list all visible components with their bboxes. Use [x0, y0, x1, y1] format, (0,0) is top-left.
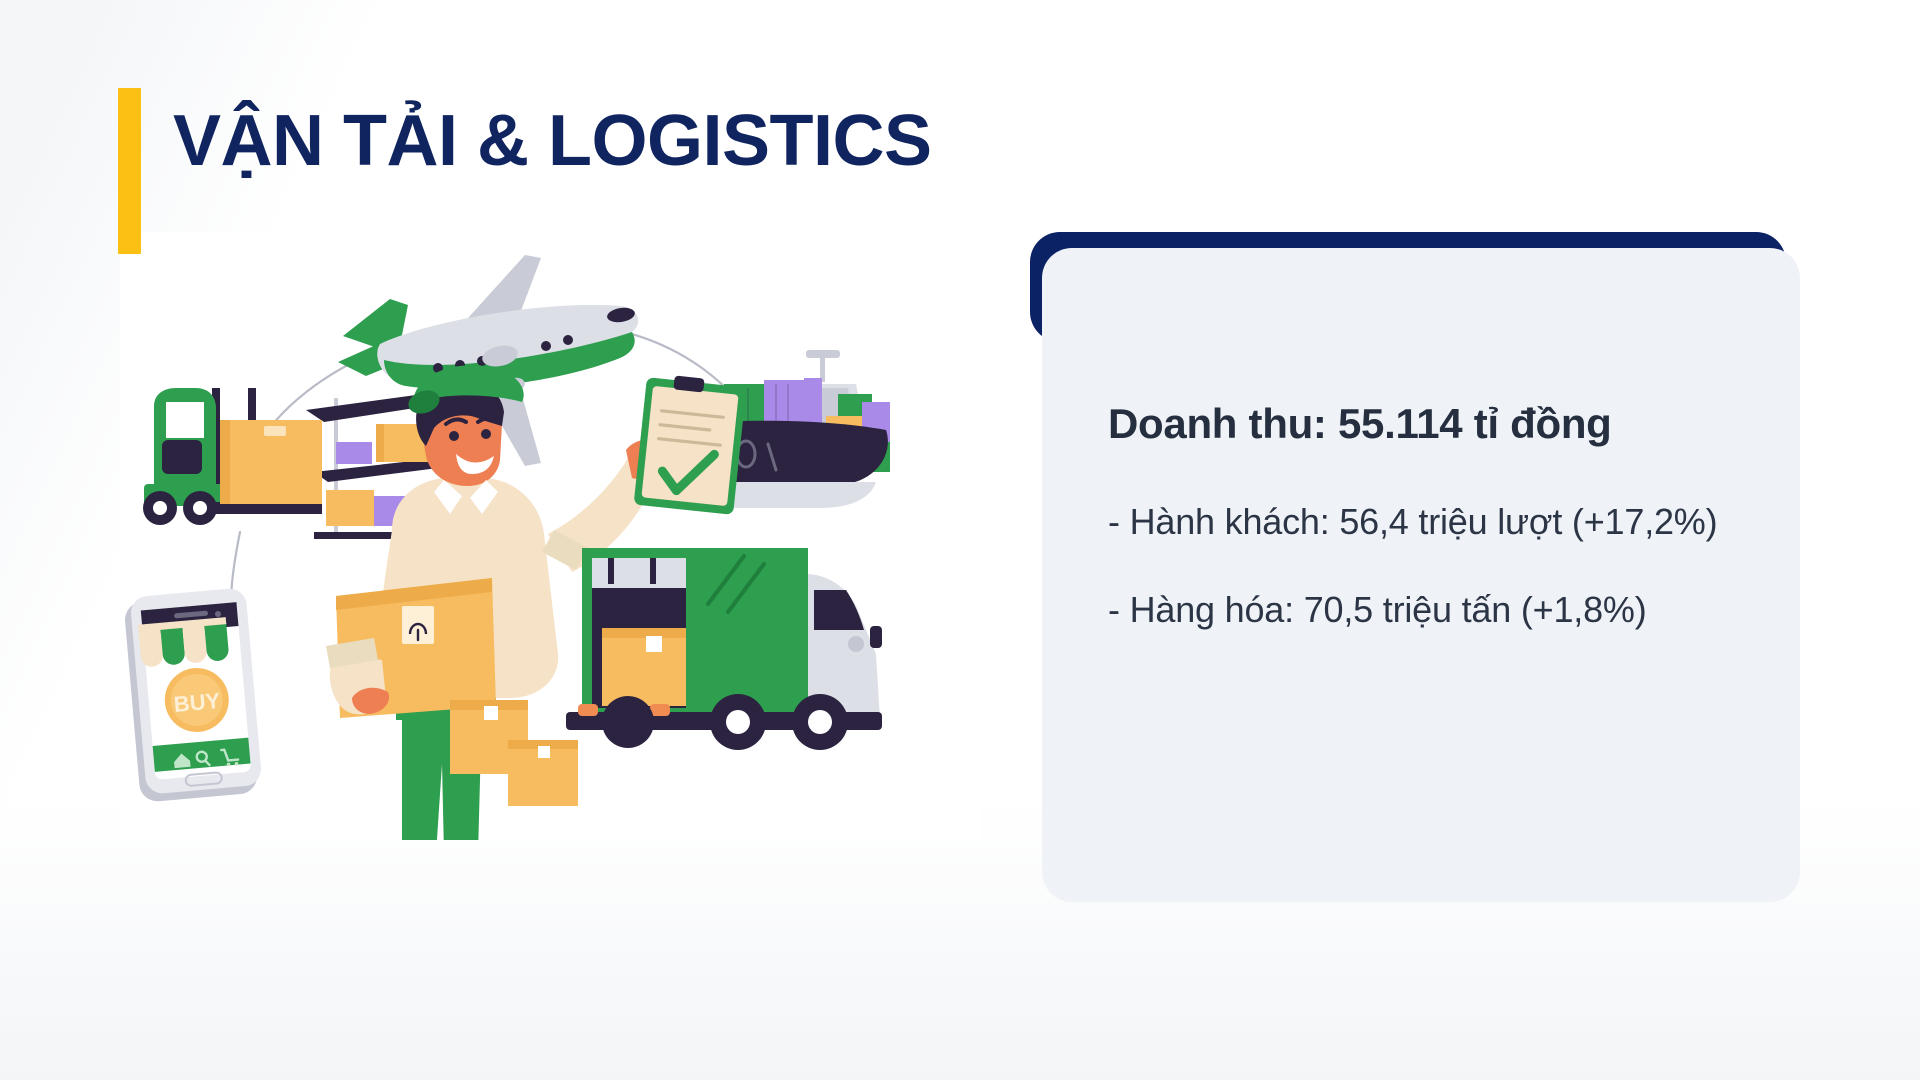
forklift	[143, 388, 322, 525]
mobile-shopping-phone: BUY	[124, 587, 263, 802]
phone-buy-label: BUY	[173, 688, 222, 717]
card-body: Doanh thu: 55.114 tỉ đồng - Hành khách: …	[1042, 248, 1800, 902]
metrics-card: Doanh thu: 55.114 tỉ đồng - Hành khách: …	[1030, 232, 1800, 902]
delivery-truck	[566, 548, 882, 750]
metric-line-passengers: - Hành khách: 56,4 triệu lượt (+17,2%)	[1108, 495, 1734, 550]
accent-bar	[118, 88, 141, 254]
illustration-panel: BUY	[120, 232, 980, 840]
clipboard-icon	[634, 375, 747, 514]
page-title: VẬN TẢI & LOGISTICS	[173, 88, 932, 180]
logistics-delivery-illustration: BUY	[120, 232, 980, 840]
metric-line-freight: - Hàng hóa: 70,5 triệu tấn (+1,8%)	[1108, 583, 1734, 638]
revenue-heading: Doanh thu: 55.114 tỉ đồng	[1108, 398, 1734, 451]
slide-header: VẬN TẢI & LOGISTICS	[118, 88, 932, 254]
